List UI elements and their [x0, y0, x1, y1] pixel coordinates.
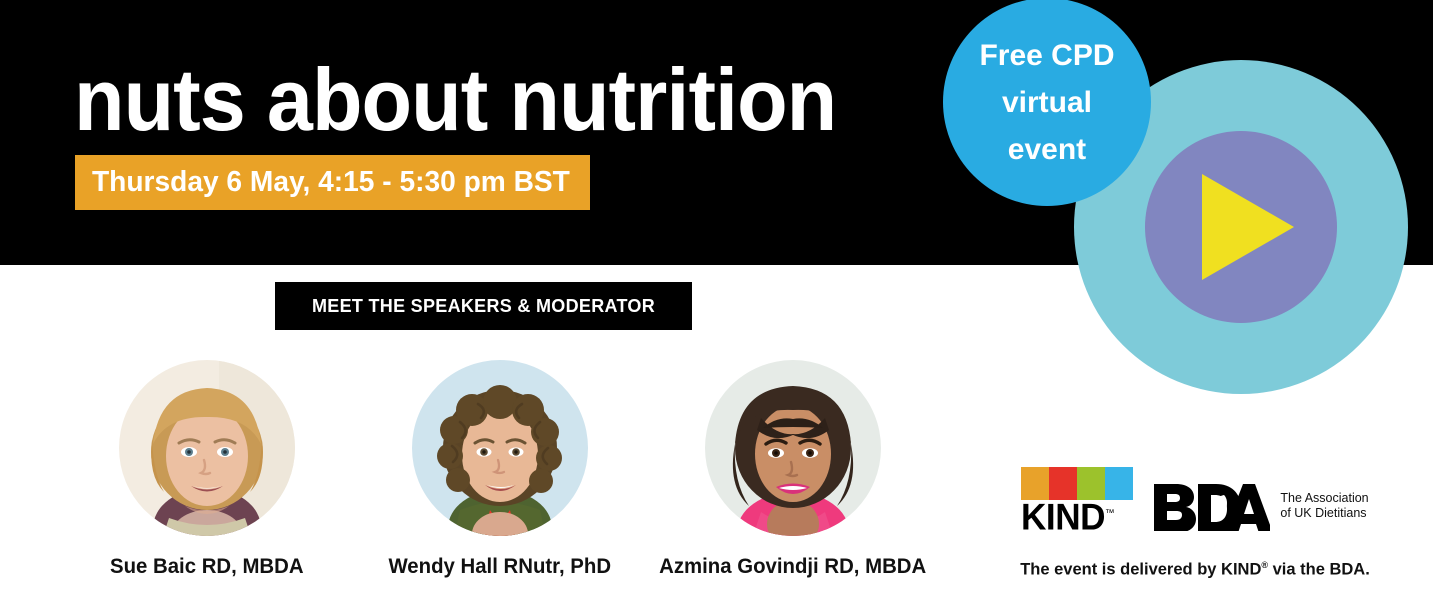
kind-trademark-symbol: ™: [1105, 508, 1114, 519]
delivered-suffix: via the BDA.: [1268, 561, 1370, 579]
speaker-name: Sue Baic RD, MBDA: [110, 555, 304, 579]
event-date-text: Thursday 6 May, 4:15 - 5:30 pm BST: [92, 166, 570, 199]
free-cpd-badge-text: Free CPD virtual event: [979, 32, 1114, 173]
kind-bar-red: [1049, 467, 1077, 500]
speaker-card: Wendy Hall RNutr, PhD: [353, 360, 646, 590]
speaker-card: Sue Baic RD, MBDA: [60, 360, 353, 590]
badge-line-1: Free CPD: [979, 39, 1114, 72]
meet-the-speakers-bar: MEET THE SPEAKERS & MODERATOR: [275, 282, 692, 330]
kind-wordmark-text: KIND: [1021, 496, 1105, 537]
speakers-row: Sue Baic RD, MBDA: [60, 360, 940, 590]
kind-wordmark: KIND™: [1021, 497, 1127, 534]
bda-wordmark-icon: [1152, 481, 1270, 531]
bda-tagline: The Association of UK Dietitians: [1280, 491, 1368, 521]
event-promo-banner: nuts about nutrition Thursday 6 May, 4:1…: [0, 0, 1433, 613]
badge-line-3: event: [1008, 133, 1086, 166]
event-date-chip: Thursday 6 May, 4:15 - 5:30 pm BST: [75, 155, 590, 210]
free-cpd-badge: Free CPD virtual event: [943, 0, 1151, 206]
bda-logo: The Association of UK Dietitians: [1152, 481, 1368, 534]
sponsor-logos: KIND™ The Association of UK Dietitians T…: [985, 468, 1405, 588]
kind-logo: KIND™: [1021, 467, 1133, 534]
kind-color-bars: [1021, 467, 1133, 500]
page-title: nuts about nutrition: [74, 52, 836, 148]
azmina-govindji-portrait: [705, 360, 881, 536]
speaker-name: Wendy Hall RNutr, PhD: [388, 555, 611, 579]
delivered-by-text: The event is delivered by KIND® via the …: [985, 560, 1405, 580]
wendy-hall-portrait: [412, 360, 588, 536]
delivered-prefix: The event is delivered by KIND: [1020, 561, 1261, 579]
play-icon[interactable]: [1202, 174, 1294, 280]
kind-bar-blue: [1105, 467, 1133, 500]
speaker-name: Azmina Govindji RD, MBDA: [659, 555, 926, 579]
kind-bar-orange: [1021, 467, 1049, 500]
speaker-card: Azmina Govindji RD, MBDA: [646, 360, 939, 590]
kind-bar-green: [1077, 467, 1105, 500]
logo-row: KIND™ The Association of UK Dietitians: [985, 468, 1405, 534]
badge-line-2: virtual: [1002, 86, 1092, 119]
bda-tagline-line-1: The Association: [1280, 491, 1368, 506]
bda-tagline-line-2: of UK Dietitians: [1280, 506, 1368, 521]
meet-the-speakers-heading: MEET THE SPEAKERS & MODERATOR: [312, 296, 655, 317]
sue-baic-portrait: [119, 360, 295, 536]
